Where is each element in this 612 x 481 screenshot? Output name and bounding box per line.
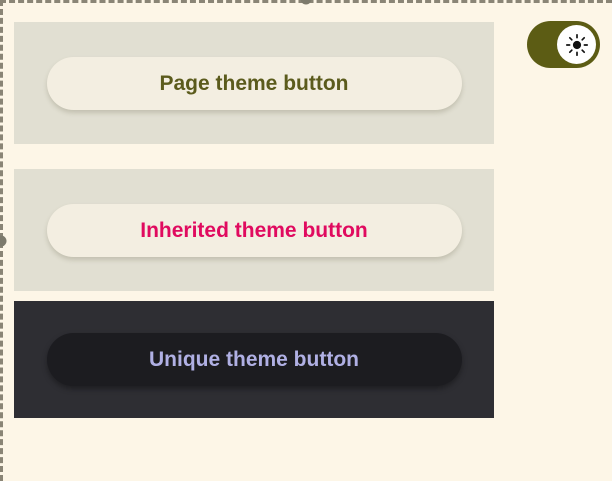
resize-handle-left[interactable] xyxy=(0,236,7,247)
unique-theme-section: Unique theme button xyxy=(14,301,494,418)
theme-toggle[interactable] xyxy=(527,21,600,68)
sun-icon xyxy=(565,33,589,57)
page-theme-section: Page theme button xyxy=(14,22,494,144)
page-root: Page theme button Inherited theme button… xyxy=(0,0,612,481)
resize-handle-top[interactable] xyxy=(301,0,312,5)
inherited-theme-section: Inherited theme button xyxy=(14,169,494,291)
page-theme-button[interactable]: Page theme button xyxy=(47,57,462,110)
theme-toggle-knob xyxy=(557,25,596,64)
unique-theme-button[interactable]: Unique theme button xyxy=(47,333,462,386)
inherited-theme-button[interactable]: Inherited theme button xyxy=(47,204,462,257)
